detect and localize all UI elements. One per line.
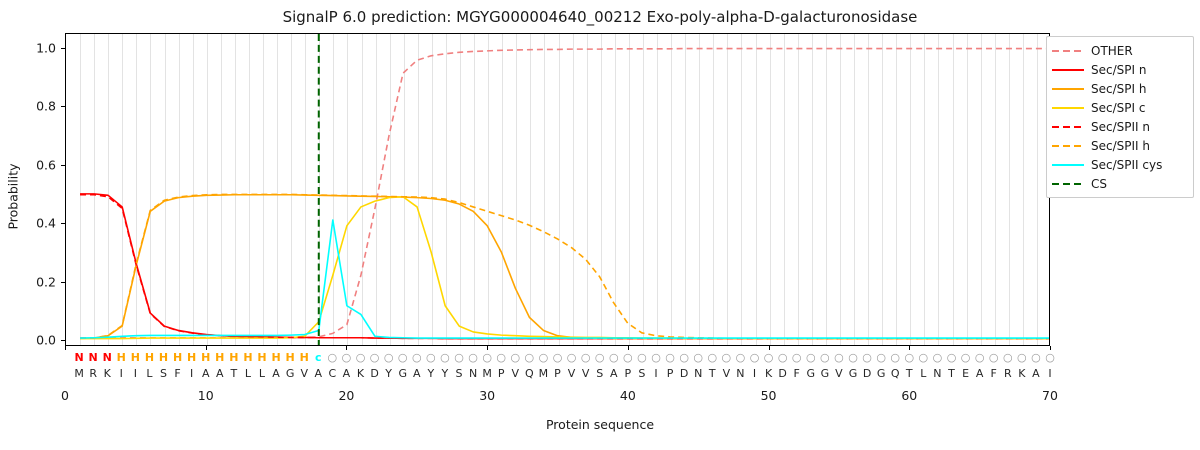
region-annotation-35: ○ [553,352,563,364]
region-annotation-63: ○ [947,352,957,364]
residue-56: G [849,368,858,380]
residue-31: P [498,368,505,380]
region-annotation-13: H [243,352,252,364]
region-annotation-58: ○ [876,352,886,364]
y-tick-label: 0.2 [8,274,56,289]
residue-68: K [1018,368,1025,380]
region-annotation-20: ○ [342,352,352,364]
signalp-prediction-figure: SignalP 6.0 prediction: MGYG000004640_00… [0,0,1200,450]
region-annotation-10: H [201,352,210,364]
legend-label: Sec/SPI n [1091,63,1146,77]
region-annotation-42: ○ [651,352,661,364]
region-annotation-51: ○ [778,352,788,364]
residue-4: I [120,368,123,380]
series-line-other [80,49,1049,338]
region-annotation-70: ○ [1045,352,1055,364]
residue-49: I [753,368,756,380]
x-tick-mark [206,346,207,350]
region-annotation-12: H [229,352,238,364]
residue-27: Y [442,368,449,380]
legend: OTHERSec/SPI nSec/SPI hSec/SPI cSec/SPII… [1046,36,1194,198]
residue-30: M [482,368,492,380]
residue-24: G [398,368,407,380]
residue-40: P [625,368,632,380]
x-tick-label: 70 [1042,388,1058,403]
region-annotation-36: ○ [567,352,577,364]
residue-34: M [539,368,549,380]
chart-title: SignalP 6.0 prediction: MGYG000004640_00… [0,8,1200,26]
legend-label: Sec/SPII n [1091,120,1150,134]
x-axis-title: Protein sequence [0,417,1200,432]
residue-20: A [343,368,351,380]
region-annotation-30: ○ [482,352,492,364]
region-annotation-60: ○ [904,352,914,364]
residue-35: P [554,368,561,380]
residue-57: D [863,368,871,380]
region-annotation-62: ○ [933,352,943,364]
residue-13: L [245,368,251,380]
series-line-sec-spii-cys [80,220,1049,338]
region-annotation-40: ○ [623,352,633,364]
residue-25: A [413,368,421,380]
residue-5: I [134,368,137,380]
legend-item-sec-spii-h[interactable]: Sec/SPII h [1051,136,1189,155]
residue-65: A [976,368,984,380]
y-tick-label: 0.6 [8,157,56,172]
residue-11: A [216,368,224,380]
region-annotation-2: N [89,352,98,364]
region-annotation-19: ○ [328,352,338,364]
residue-53: G [807,368,816,380]
region-annotation-27: ○ [440,352,450,364]
region-annotation-15: H [271,352,280,364]
residue-54: G [821,368,830,380]
legend-label: CS [1091,177,1107,191]
region-annotation-33: ○ [525,352,535,364]
residue-10: A [202,368,210,380]
legend-label: OTHER [1091,44,1133,58]
residue-47: V [723,368,731,380]
residue-29: N [469,368,477,380]
region-annotation-24: ○ [398,352,408,364]
data-lines [66,34,1049,345]
residue-21: K [357,368,364,380]
residue-51: D [778,368,786,380]
x-tick-label: 50 [761,388,777,403]
region-annotation-8: H [173,352,182,364]
residue-36: V [568,368,576,380]
region-annotation-46: ○ [707,352,717,364]
region-annotation-22: ○ [370,352,380,364]
legend-label: Sec/SPII cys [1091,158,1162,172]
legend-swatch-icon [1051,45,1085,57]
series-line-sec-spii-h [80,194,1049,338]
region-annotation-57: ○ [862,352,872,364]
series-line-sec-spi-c [80,197,1049,339]
region-annotation-17: H [300,352,309,364]
region-annotation-49: ○ [750,352,760,364]
residue-15: A [272,368,280,380]
residue-63: T [948,368,955,380]
region-annotation-21: ○ [356,352,366,364]
legend-swatch-icon [1051,102,1085,114]
x-tick-mark [769,346,770,350]
region-annotation-39: ○ [609,352,619,364]
x-tick-mark [65,346,66,350]
residue-6: L [146,368,152,380]
residue-12: T [230,368,237,380]
x-tick-label: 60 [901,388,917,403]
residue-48: N [736,368,744,380]
residue-16: G [286,368,295,380]
region-annotation-31: ○ [496,352,506,364]
region-annotation-45: ○ [693,352,703,364]
residue-19: C [329,368,337,380]
region-annotation-53: ○ [806,352,816,364]
residue-59: Q [891,368,900,380]
y-tick-label: 1.0 [8,40,56,55]
residue-2: R [89,368,97,380]
residue-3: K [104,368,111,380]
x-tick-label: 30 [479,388,495,403]
residue-28: S [456,368,463,380]
region-annotation-66: ○ [989,352,999,364]
residue-37: V [582,368,590,380]
region-annotation-37: ○ [581,352,591,364]
residue-1: M [74,368,84,380]
region-annotation-38: ○ [595,352,605,364]
y-tick-label: 0.0 [8,333,56,348]
residue-38: S [596,368,603,380]
legend-item-other[interactable]: OTHER [1051,41,1189,60]
region-annotation-69: ○ [1031,352,1041,364]
legend-item-sec-spi-h[interactable]: Sec/SPI h [1051,79,1189,98]
region-annotation-23: ○ [384,352,394,364]
residue-26: Y [427,368,434,380]
region-annotation-68: ○ [1017,352,1027,364]
x-tick-label: 0 [61,388,69,403]
region-annotation-59: ○ [890,352,900,364]
x-tick-mark [487,346,488,350]
x-tick-mark [628,346,629,350]
residue-58: G [877,368,886,380]
legend-item-sec-spi-c[interactable]: Sec/SPI c [1051,98,1189,117]
region-annotation-43: ○ [665,352,675,364]
residue-8: F [174,368,180,380]
legend-label: Sec/SPI h [1091,82,1146,96]
region-annotation-5: H [131,352,140,364]
region-annotation-18: c [315,352,322,364]
region-annotation-28: ○ [454,352,464,364]
residue-42: I [654,368,657,380]
residue-66: F [991,368,997,380]
residue-39: A [610,368,618,380]
region-annotation-64: ○ [961,352,971,364]
residue-33: Q [525,368,534,380]
y-tick-label: 0.8 [8,99,56,114]
region-annotation-16: H [286,352,295,364]
x-tick-mark [1050,346,1051,350]
region-annotation-4: H [117,352,126,364]
series-line-sec-spii-n [80,195,1049,339]
region-annotation-6: H [145,352,154,364]
legend-swatch-icon [1051,140,1085,152]
legend-label: Sec/SPII h [1091,139,1150,153]
region-annotation-56: ○ [848,352,858,364]
residue-61: L [920,368,926,380]
legend-label: Sec/SPI c [1091,101,1145,115]
legend-item-sec-spii-n[interactable]: Sec/SPII n [1051,117,1189,136]
region-annotation-65: ○ [975,352,985,364]
region-annotation-3: N [103,352,112,364]
residue-69: A [1032,368,1040,380]
y-tick-label: 0.4 [8,216,56,231]
region-annotation-9: H [187,352,196,364]
legend-swatch-icon [1051,178,1085,190]
residue-23: Y [385,368,392,380]
residue-64: E [962,368,969,380]
residue-9: I [190,368,193,380]
x-tick-label: 40 [620,388,636,403]
legend-swatch-icon [1051,121,1085,133]
region-annotation-26: ○ [426,352,436,364]
residue-44: D [680,368,688,380]
plot-area [65,33,1050,346]
legend-swatch-icon [1051,64,1085,76]
legend-item-sec-spii-cys[interactable]: Sec/SPII cys [1051,155,1189,174]
legend-swatch-icon [1051,83,1085,95]
region-annotation-44: ○ [679,352,689,364]
legend-item-cs[interactable]: CS [1051,174,1189,193]
region-annotation-7: H [159,352,168,364]
region-annotation-34: ○ [539,352,549,364]
residue-50: K [765,368,772,380]
region-annotation-50: ○ [764,352,774,364]
residue-60: T [906,368,913,380]
region-annotation-55: ○ [834,352,844,364]
residue-22: D [370,368,378,380]
residue-43: P [667,368,674,380]
region-annotation-41: ○ [637,352,647,364]
region-annotation-48: ○ [736,352,746,364]
region-annotation-32: ○ [510,352,520,364]
x-tick-mark [909,346,910,350]
residue-55: V [835,368,843,380]
residue-41: S [638,368,645,380]
legend-item-sec-spi-n[interactable]: Sec/SPI n [1051,60,1189,79]
region-annotation-52: ○ [792,352,802,364]
series-line-sec-spi-h [80,195,1049,339]
residue-18: A [315,368,323,380]
region-annotation-47: ○ [722,352,732,364]
series-line-sec-spi-n [80,194,1049,339]
region-annotation-1: N [74,352,83,364]
region-annotation-61: ○ [919,352,929,364]
residue-67: R [1004,368,1012,380]
region-annotation-54: ○ [820,352,830,364]
region-annotation-67: ○ [1003,352,1013,364]
region-annotation-29: ○ [468,352,478,364]
x-tick-label: 10 [198,388,214,403]
x-tick-label: 20 [338,388,354,403]
residue-7: S [160,368,167,380]
region-annotation-11: H [215,352,224,364]
region-annotation-25: ○ [412,352,422,364]
x-tick-mark [346,346,347,350]
region-annotation-14: H [257,352,266,364]
residue-32: V [512,368,520,380]
residue-45: N [694,368,702,380]
residue-62: N [933,368,941,380]
residue-46: T [709,368,716,380]
y-axis-title: Probability [6,122,21,272]
residue-17: V [300,368,308,380]
legend-swatch-icon [1051,159,1085,171]
residue-14: L [259,368,265,380]
residue-52: F [794,368,800,380]
residue-70: I [1048,368,1051,380]
